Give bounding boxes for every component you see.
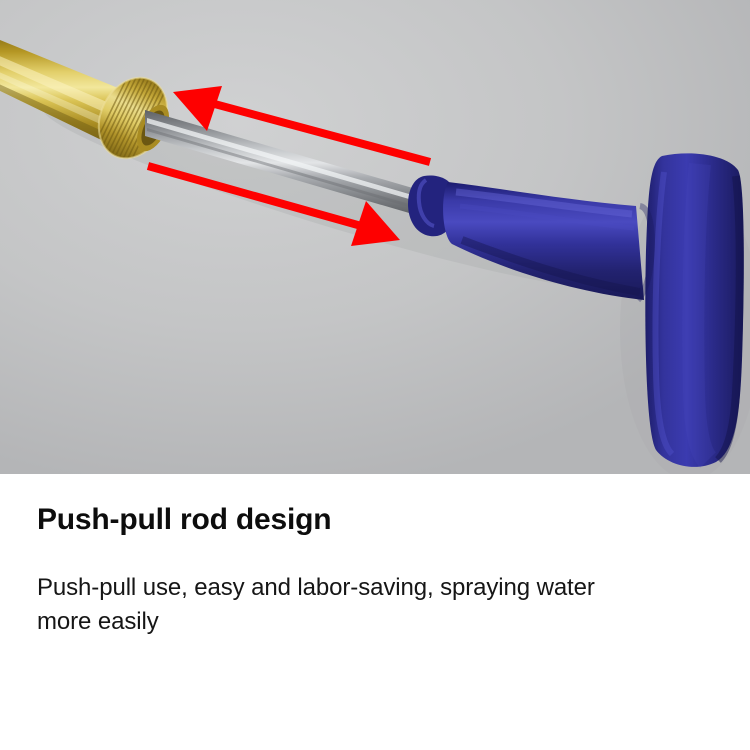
product-photo bbox=[0, 0, 750, 474]
product-feature-card: Push-pull rod design Push-pull use, easy… bbox=[0, 0, 750, 750]
feature-text-panel: Push-pull rod design Push-pull use, easy… bbox=[0, 474, 750, 750]
product-photo-illustration bbox=[0, 0, 750, 474]
feature-title: Push-pull rod design bbox=[37, 503, 331, 537]
feature-description: Push-pull use, easy and labor-saving, sp… bbox=[37, 571, 637, 639]
